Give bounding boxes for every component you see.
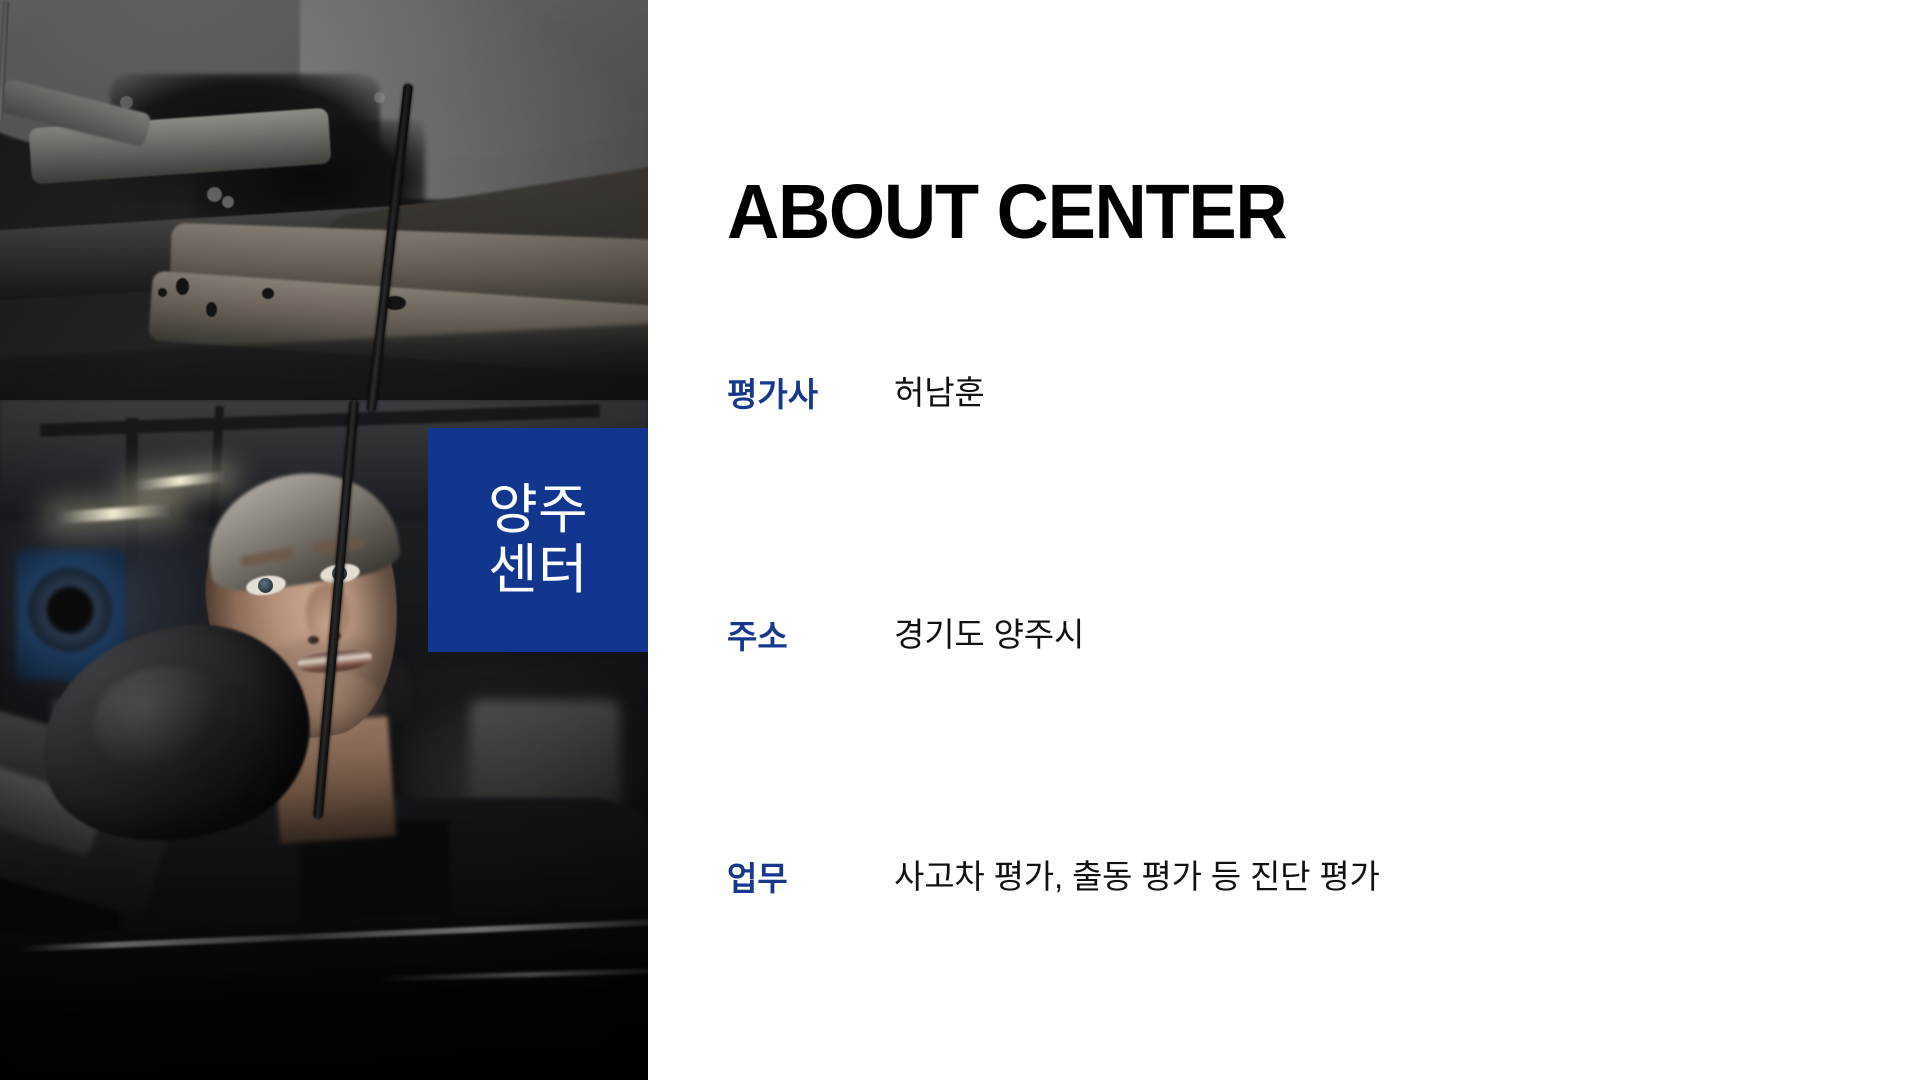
info-label-evaluator: 평가사 xyxy=(727,368,818,416)
info-row-evaluator: 평가사 허남훈 xyxy=(727,368,1827,610)
center-badge-line-2: 센터 xyxy=(488,540,588,600)
content-panel: ABOUT CENTER 평가사 허남훈 주소 경기도 양주시 업무 사고차 평… xyxy=(648,0,1920,1080)
info-label-address: 주소 xyxy=(727,610,788,658)
info-row-address: 주소 경기도 양주시 xyxy=(727,610,1827,852)
bolt-highlight xyxy=(120,96,133,109)
chassis-hole xyxy=(206,302,217,317)
info-value-address: 경기도 양주시 xyxy=(894,608,1084,656)
chassis-hole xyxy=(262,288,274,299)
undercarriage-photo-region xyxy=(0,0,648,430)
bolt-highlight xyxy=(374,92,385,103)
chassis-hole xyxy=(176,278,189,295)
chassis-hole xyxy=(158,288,167,297)
info-value-services: 사고차 평가, 출동 평가 등 진단 평가 xyxy=(894,850,1380,898)
mechanic-nostril-left xyxy=(308,636,319,644)
mechanic-iris-left xyxy=(258,578,273,593)
center-name-badge: 양주 센터 xyxy=(428,428,648,652)
center-badge-line-1: 양주 xyxy=(488,480,588,540)
page-title: ABOUT CENTER xyxy=(727,168,1286,257)
bolt-highlight xyxy=(207,187,222,202)
info-label-services: 업무 xyxy=(727,852,788,900)
center-info-list: 평가사 허남훈 주소 경기도 양주시 업무 사고차 평가, 출동 평가 등 진단… xyxy=(727,368,1827,852)
slide-canvas: 양주 센터 ABOUT CENTER 평가사 허남훈 주소 경기도 양주시 업무… xyxy=(0,0,1920,1080)
car-hood xyxy=(0,903,648,1080)
wall-tire xyxy=(28,568,112,652)
bolt-highlight xyxy=(222,196,234,208)
info-value-evaluator: 허남훈 xyxy=(894,366,985,414)
mechanic-nose xyxy=(306,582,350,644)
